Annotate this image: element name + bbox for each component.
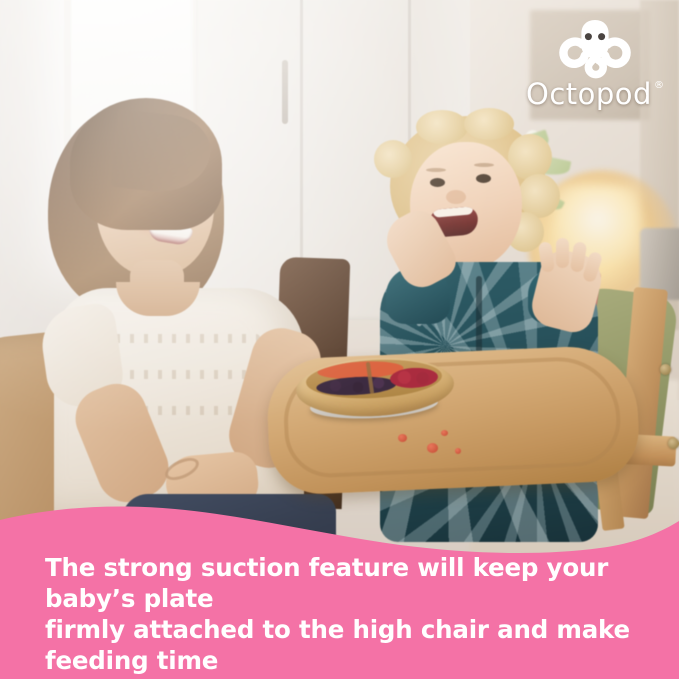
high-chair-bolt [660, 364, 671, 375]
registered-trademark-icon: ® [654, 81, 664, 91]
baby-hair-curl [374, 140, 412, 178]
brand-wordmark: Octopod ® [520, 80, 670, 116]
baby-hair-curl [416, 110, 468, 144]
baby-eyebrow [474, 163, 494, 167]
baby-finger [556, 238, 569, 268]
food-crumb [441, 430, 448, 436]
baby-eye [476, 174, 491, 183]
brand-logo: Octopod ® [520, 18, 670, 118]
baby-eyebrow [426, 168, 446, 172]
banner-canvas: Octopod ® The strong suction feature wil… [0, 0, 679, 679]
food-crumb [427, 443, 438, 453]
food-dark-berries [316, 375, 397, 397]
baby-eye [430, 178, 445, 187]
brand-wordmark-text: Octopod [526, 80, 652, 109]
baby-hair-curl [464, 108, 514, 140]
woman-jeans [122, 494, 336, 560]
high-chair-bolt [668, 438, 679, 449]
baby-nose [446, 190, 466, 204]
food-crumb [398, 434, 407, 442]
banner-headline: The strong suction feature will keep you… [45, 552, 645, 679]
food-crumb [455, 448, 461, 454]
octopus-logo-icon [558, 18, 632, 80]
